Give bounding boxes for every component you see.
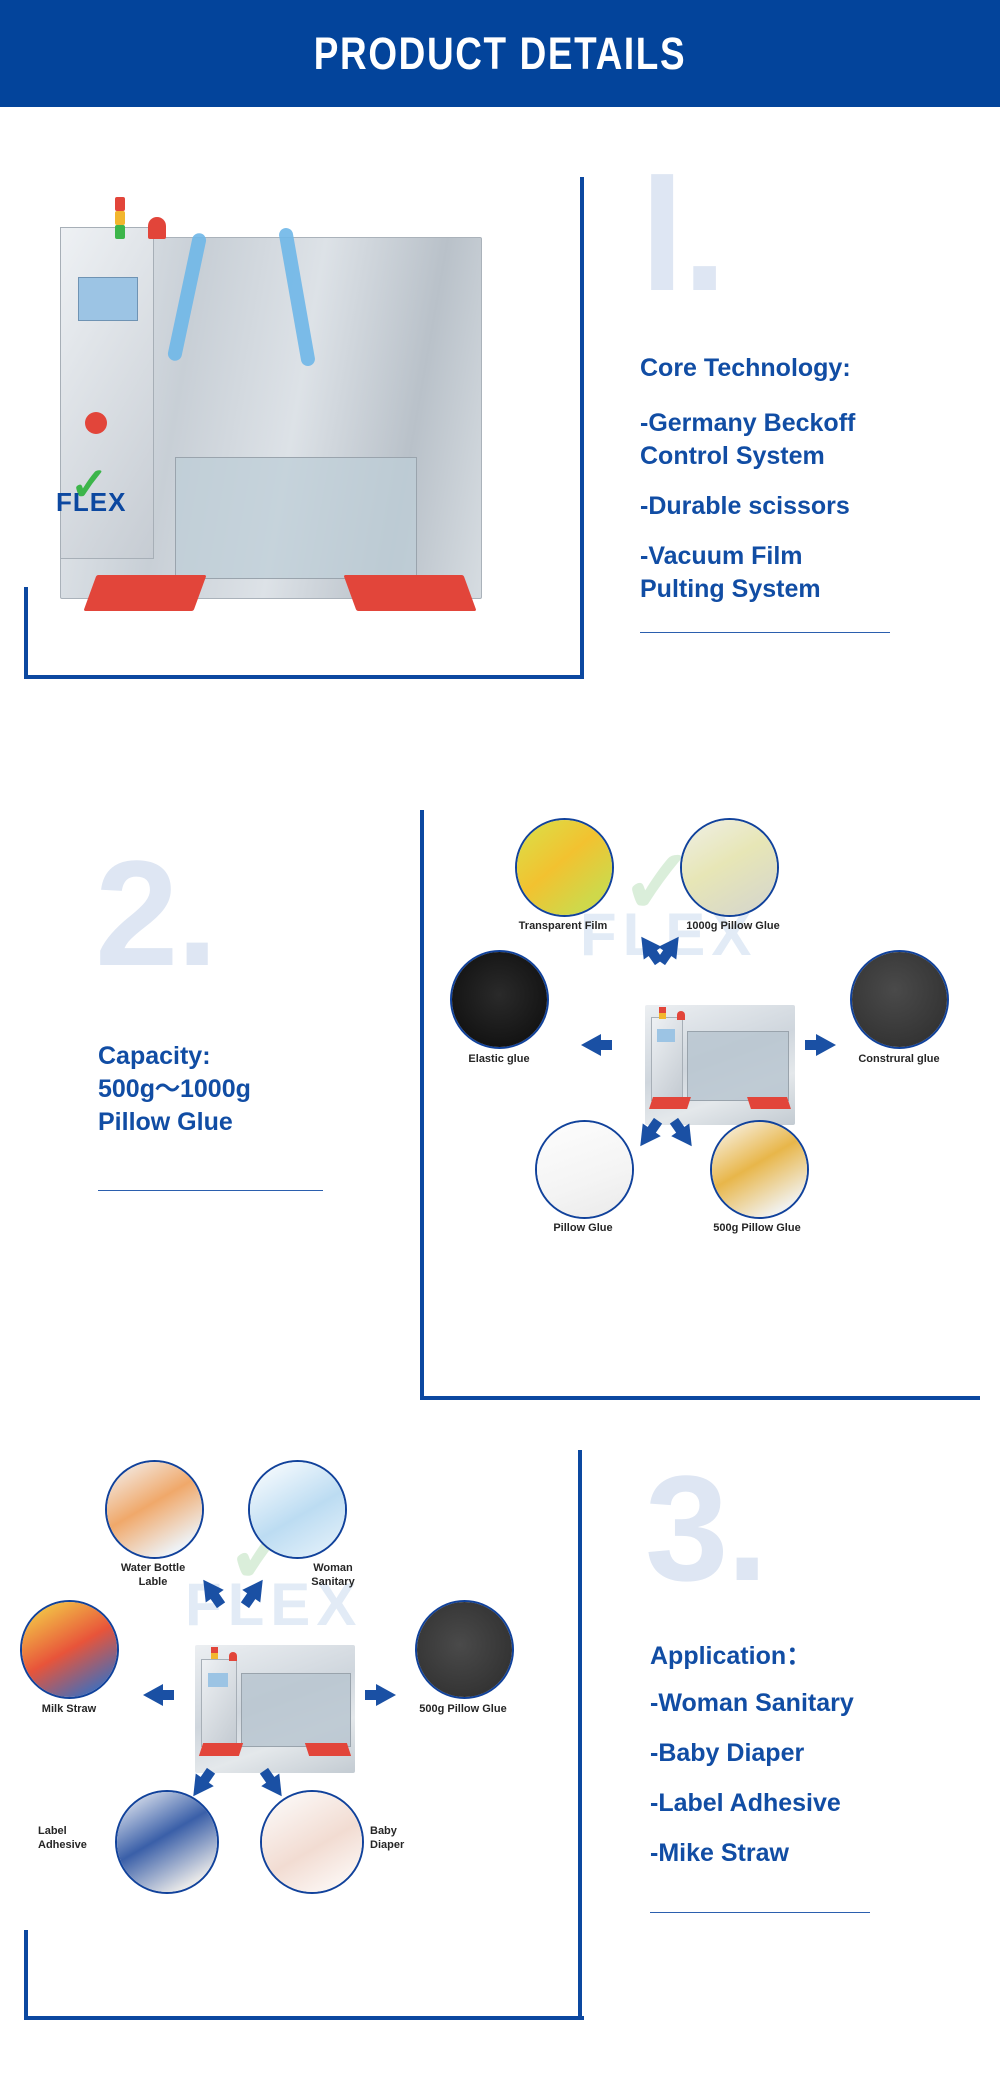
section1-frame-bottom xyxy=(24,675,584,679)
section2-frame-bottom xyxy=(420,1396,980,1400)
section2-underline xyxy=(98,1190,323,1191)
section1-frame-divider xyxy=(580,177,584,677)
diagram-node-label: Elastic glue xyxy=(428,1053,570,1067)
section3-frame-divider xyxy=(578,1450,582,2020)
diagram-node-label: Milk Straw xyxy=(0,1703,140,1717)
diagram-node-label: Transparent Film xyxy=(492,920,634,934)
diagram-node-label: 500g Pillow Glue xyxy=(392,1703,534,1717)
diagram-arrow-down-right xyxy=(671,1123,700,1152)
diagram-arrow-left xyxy=(581,1034,601,1056)
section3-application-item: -Baby Diaper xyxy=(650,1737,990,1770)
diagram-node xyxy=(850,950,949,1049)
diagram-node xyxy=(115,1790,219,1894)
diagram-node-label: Construral glue xyxy=(828,1053,970,1067)
section-application: 3. Application： -Woman Sanitary -Baby Di… xyxy=(0,1440,1000,2080)
diagram-node-label: 500g Pillow Glue xyxy=(686,1222,828,1236)
diagram-node xyxy=(450,950,549,1049)
capacity-diagram: ✓ FLEX Transparent Film 1000g Pillow Glu… xyxy=(430,810,990,1390)
diagram-node-label: Label Adhesive xyxy=(38,1825,118,1853)
section2-frame-divider xyxy=(420,810,424,1400)
section1-feature-list: -Germany Beckoff Control System -Durable… xyxy=(640,407,980,623)
diagram-node-label: Woman Sanitary xyxy=(273,1562,393,1590)
section2-heading: Capacity: 500g～1000g Pillow Glue xyxy=(98,1040,418,1139)
diagram-node xyxy=(415,1600,514,1699)
diagram-node xyxy=(248,1460,347,1559)
section3-application-item: -Mike Straw xyxy=(650,1837,990,1870)
section1-feature-item: -Germany Beckoff Control System xyxy=(640,407,980,473)
machine-photo-core-technology: ✓ FLEX xyxy=(30,167,560,657)
application-diagram: ✓ FLEX Water Bottle Lable Woman Sanitary… xyxy=(20,1460,570,2020)
section1-feature-item: -Vacuum Film Pulting System xyxy=(640,540,980,606)
diagram-node-label: Baby Diaper xyxy=(370,1825,460,1853)
section1-number: l. xyxy=(640,167,725,303)
section3-number: 3. xyxy=(645,1465,766,1593)
diagram-node xyxy=(680,818,779,917)
section1-frame-left xyxy=(24,587,28,679)
section-capacity: 2. Capacity: 500g～1000g Pillow Glue ✓ FL… xyxy=(0,800,1000,1420)
diagram-arrow-right xyxy=(816,1034,836,1056)
page-title: PRODUCT DETAILS xyxy=(90,0,910,107)
diagram-node xyxy=(105,1460,204,1559)
section3-heading: Application： xyxy=(650,1640,980,1673)
page-header-banner: PRODUCT DETAILS xyxy=(0,0,1000,107)
diagram-node-label: 1000g Pillow Glue xyxy=(662,920,804,934)
section1-feature-item: -Durable scissors xyxy=(640,490,980,523)
diagram-center-machine xyxy=(645,1005,795,1125)
diagram-arrow-left xyxy=(143,1684,163,1706)
diagram-node xyxy=(535,1120,634,1219)
diagram-arrow-right xyxy=(376,1684,396,1706)
diagram-center-machine xyxy=(195,1645,355,1773)
section3-application-item: -Label Adhesive xyxy=(650,1787,990,1820)
diagram-arrow-down-left xyxy=(631,1123,660,1152)
diagram-node xyxy=(20,1600,119,1699)
section3-application-list: -Woman Sanitary -Baby Diaper -Label Adhe… xyxy=(650,1687,990,1887)
section3-application-item: -Woman Sanitary xyxy=(650,1687,990,1720)
diagram-node xyxy=(515,818,614,917)
section3-underline xyxy=(650,1912,870,1913)
diagram-node xyxy=(260,1790,364,1894)
section-core-technology: ✓ FLEX l. Core Technology: -Germany Beck… xyxy=(0,107,1000,774)
section2-number: 2. xyxy=(95,850,216,978)
section1-underline xyxy=(640,632,890,633)
section1-heading: Core Technology: xyxy=(640,352,970,385)
diagram-node xyxy=(710,1120,809,1219)
diagram-node-label: Pillow Glue xyxy=(512,1222,654,1236)
